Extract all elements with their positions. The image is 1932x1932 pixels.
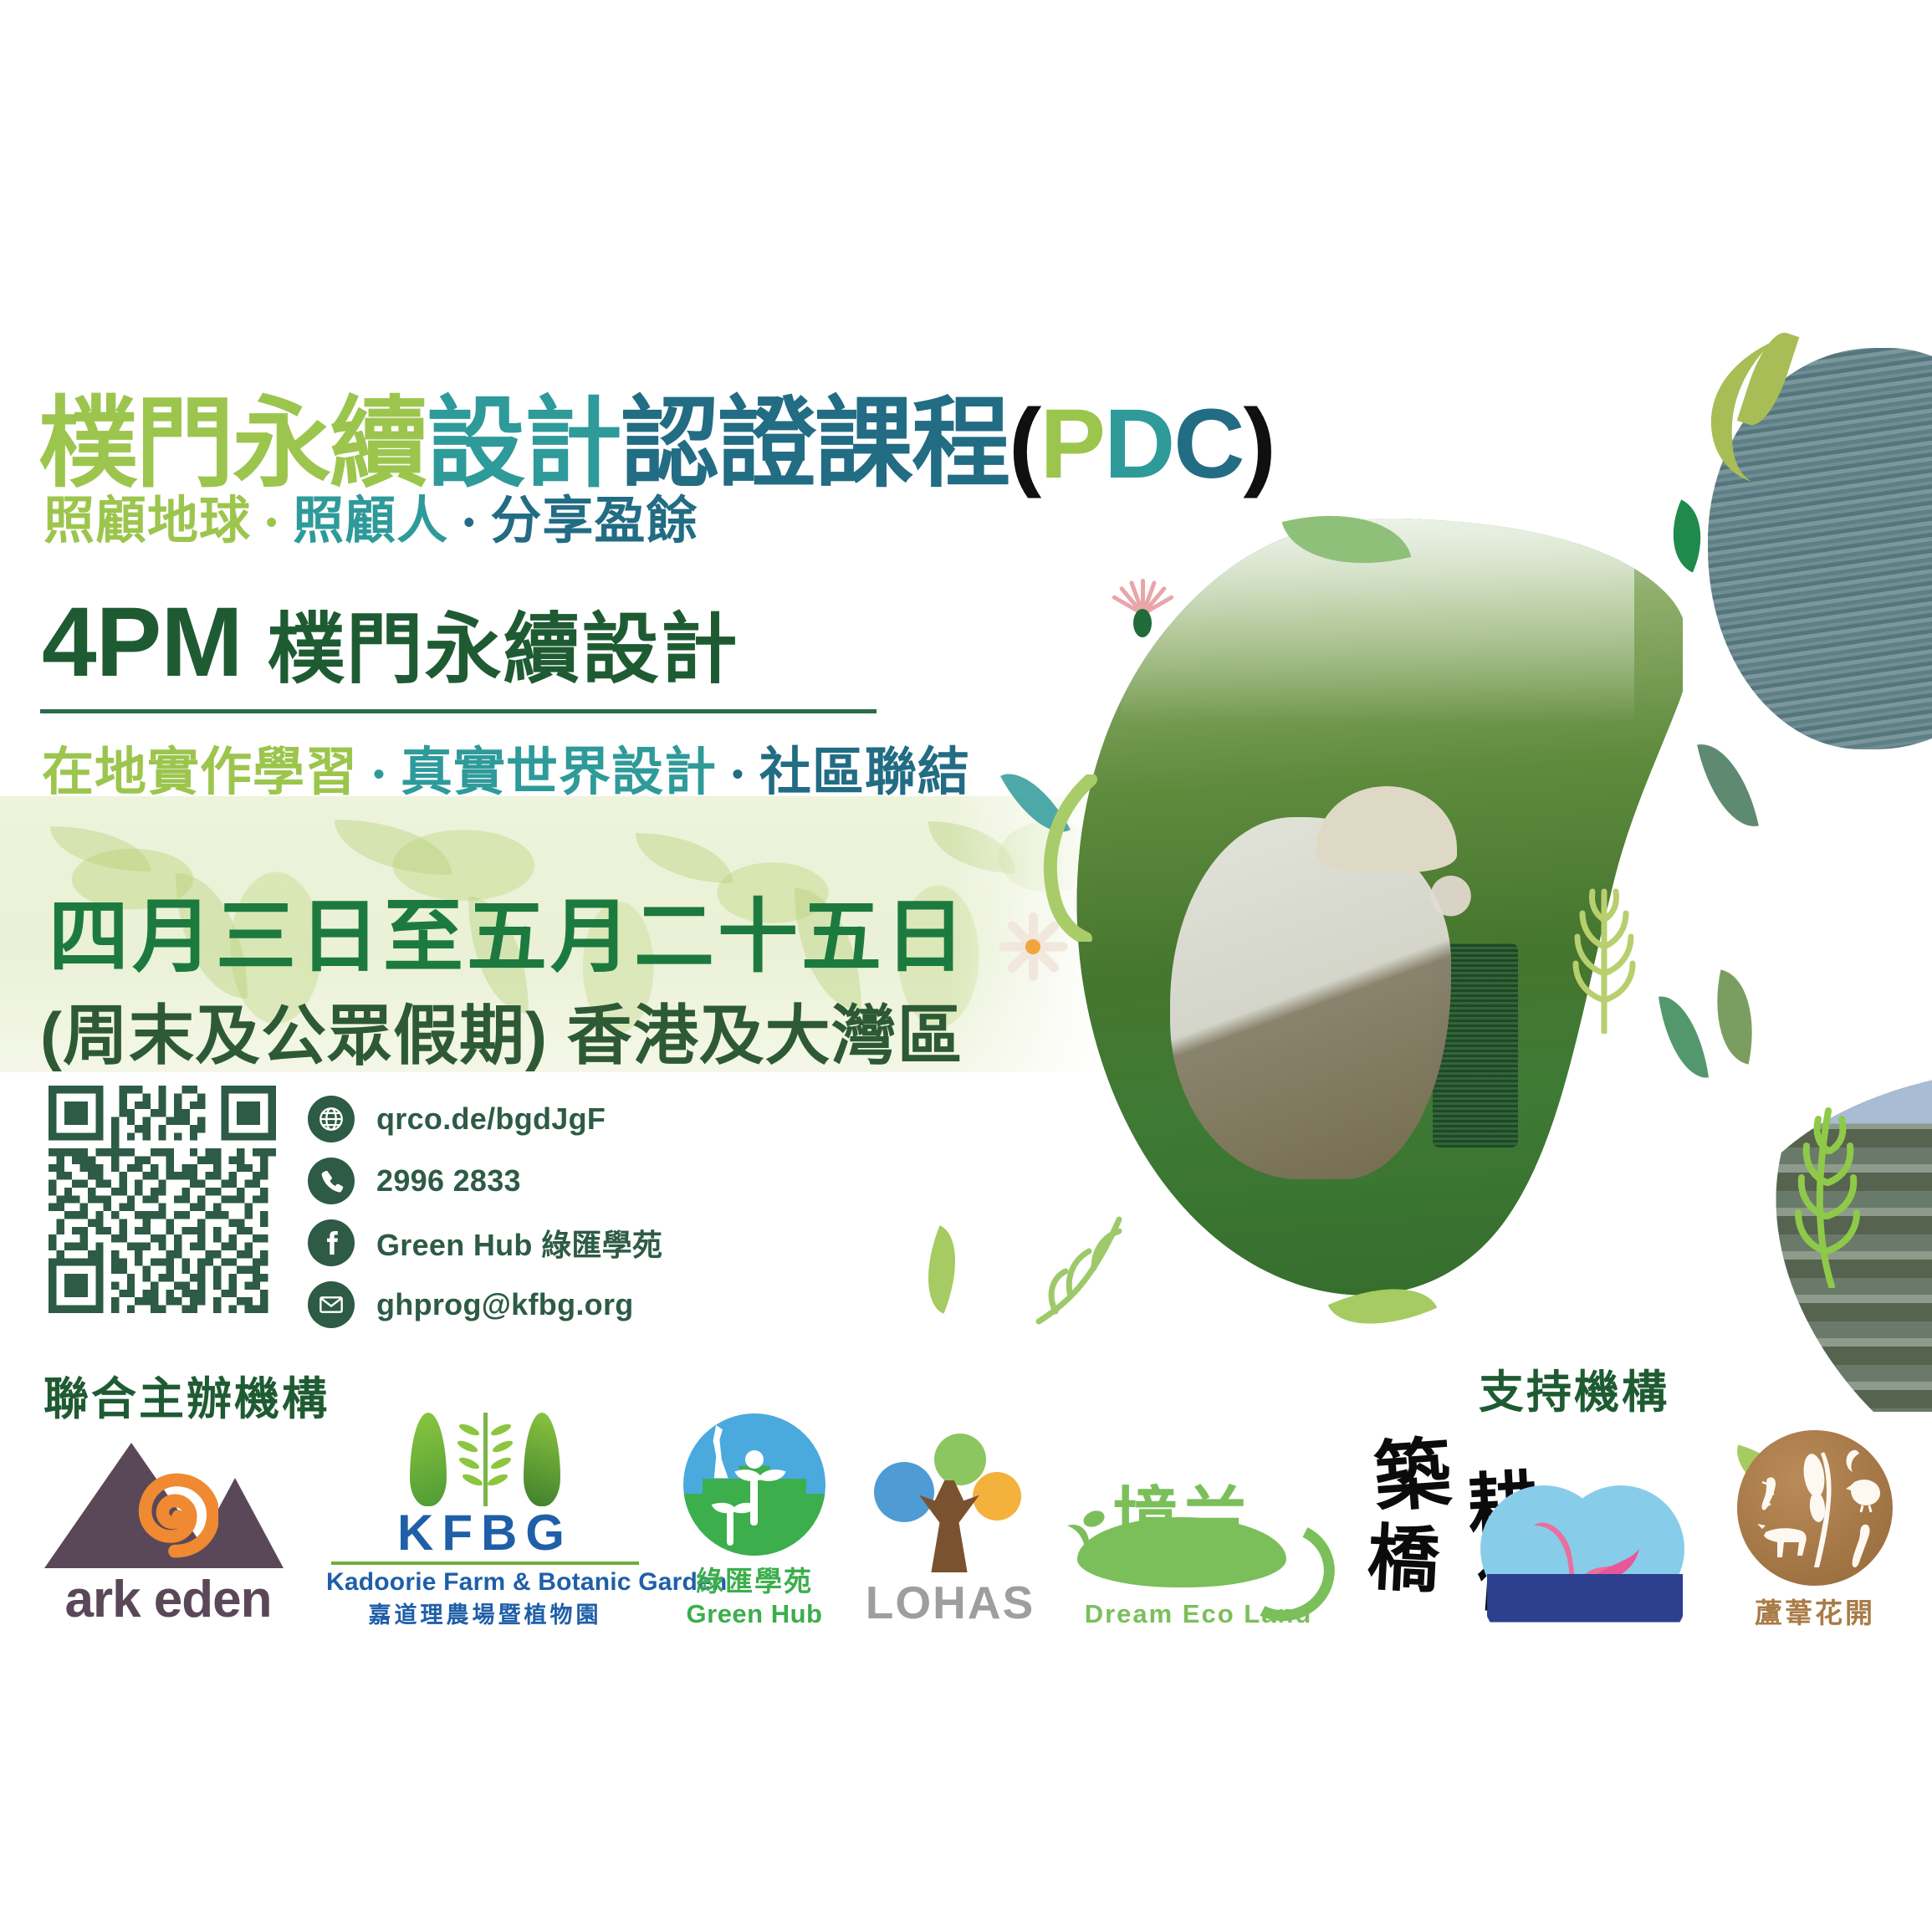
brush-char-2: 橋: [1366, 1522, 1441, 1597]
ribbon-leaf-icon: [1679, 335, 1788, 485]
dandelion-icon: [1102, 545, 1183, 637]
divider-rule: [40, 709, 877, 713]
logo-whale-tail[interactable]: [1472, 1475, 1698, 1631]
title-paren-open: (: [1009, 389, 1040, 499]
logo-reed-flower[interactable]: 蘆葦花開: [1716, 1430, 1914, 1631]
ark-eden-mountain-icon: [44, 1430, 292, 1568]
coorganiser-logo-row: ark eden KFBG Kadoori: [38, 1412, 1460, 1629]
kfbg-initials: KFBG: [326, 1508, 644, 1558]
seedling-sprig-icon: [1022, 1204, 1139, 1330]
whale-tail-icon: [1480, 1475, 1689, 1631]
lohas-name: LOHAS: [861, 1576, 1039, 1629]
reed-circle-icon: [1737, 1430, 1893, 1586]
logo-kfbg[interactable]: KFBG Kadoorie Farm & Botanic Garden 嘉道理農…: [326, 1408, 644, 1629]
ethics-tagline: 照顧地球 • 照顧人 • 分享盈餘: [43, 478, 698, 553]
contact-row-phone[interactable]: 2996 2833: [308, 1151, 662, 1211]
sprout-icon: [1066, 1509, 1106, 1552]
ethic-earth-care: 照顧地球: [43, 492, 251, 549]
title-paren-close: ): [1244, 389, 1275, 499]
dream-eco-land-mark-icon: 境兰: [1066, 1479, 1331, 1606]
facebook-value: Green Hub 綠匯學苑: [376, 1221, 662, 1265]
leaf-icon-olive-2: [1703, 969, 1766, 1064]
course-location-note: (周末及公眾假期) 香港及大灣區: [40, 984, 963, 1077]
feature-local-practice: 在地實作學習: [42, 744, 358, 801]
facebook-icon: [308, 1219, 355, 1266]
brush-char-1: 築: [1372, 1434, 1454, 1516]
ethic-fair-share: 分享盈餘: [490, 492, 698, 549]
leaf-icon-mint: [1659, 991, 1709, 1082]
logo-ark-eden[interactable]: ark eden: [38, 1430, 298, 1629]
kfbg-leaves-icon: [326, 1408, 644, 1506]
spiral-icon: [131, 1471, 218, 1558]
contact-row-facebook[interactable]: Green Hub 綠匯學苑: [308, 1213, 662, 1273]
wheat-sprig-icon: [1551, 875, 1659, 1034]
feature-community-link: 社區聯結: [759, 744, 970, 801]
tagline-separator-2: •: [463, 505, 475, 541]
kfbg-chinese-name: 嘉道理農場暨植物園: [326, 1597, 644, 1629]
phone-value: 2996 2833: [376, 1163, 521, 1199]
leaf-icon-sage: [1697, 736, 1759, 835]
dream-eco-land-chinese-name: 境兰: [1112, 1485, 1251, 1552]
green-hub-english-name: Green Hub: [666, 1599, 843, 1629]
green-hub-chinese-name: 綠匯學苑: [666, 1559, 843, 1599]
supporter-logo-row: 蘆葦花開: [1472, 1413, 1924, 1631]
feature-real-world-design: 真實世界設計: [401, 744, 717, 801]
website-value: qrco.de/bgdJgF: [376, 1101, 606, 1137]
ark-eden-name: ark eden: [38, 1570, 298, 1629]
session-time: 4PM: [42, 587, 243, 698]
contact-list: qrco.de/bgdJgF 2996 2833 Green Hub 綠匯學苑: [308, 1089, 662, 1337]
course-date-range: 四月三日至五月二十五日: [49, 871, 969, 988]
qr-code[interactable]: [49, 1086, 276, 1313]
tagline-separator-1: •: [266, 505, 278, 541]
lohas-tree-icon: [871, 1434, 1030, 1574]
green-hub-mark-icon: [683, 1413, 825, 1556]
course-features: 在地實作學習 • 真實世界設計 • 社區聯結: [42, 729, 970, 805]
reed-name: 蘆葦花開: [1716, 1591, 1914, 1631]
contact-row-email[interactable]: ghprog@kfbg.org: [308, 1275, 662, 1335]
course-name: 樸門永續設計: [268, 607, 739, 693]
time-row: 4PM樸門永續設計: [42, 585, 739, 699]
grass-swirl-icon: [1014, 774, 1114, 942]
logo-lohas[interactable]: LOHAS: [861, 1434, 1039, 1629]
email-value: ghprog@kfbg.org: [376, 1287, 634, 1322]
title-letter-c: C: [1173, 389, 1243, 499]
title-letter-d: D: [1104, 389, 1173, 499]
contact-row-website[interactable]: qrco.de/bgdJgF: [308, 1089, 662, 1149]
poster-canvas: 樸門永續設計認證課程(PDC) 照顧地球 • 照顧人 • 分享盈餘 4PM樸門永…: [0, 0, 1932, 1932]
fern-sprig-icon: [1770, 1096, 1887, 1288]
phone-icon: [308, 1158, 355, 1204]
leaf-icon-lime: [910, 1225, 974, 1313]
supporters-label: 支持機構: [1479, 1355, 1669, 1421]
title-letter-p: P: [1040, 389, 1104, 499]
ethic-people-care: 照顧人: [293, 492, 448, 549]
subtitle-separator-1: •: [373, 756, 385, 793]
logo-green-hub[interactable]: 綠匯學苑 Green Hub: [666, 1413, 843, 1629]
logo-dream-eco-land[interactable]: 境兰 Dream Eco Land: [1061, 1479, 1337, 1629]
subtitle-separator-2: •: [732, 756, 744, 793]
kfbg-english-name: Kadoorie Farm & Botanic Garden: [326, 1568, 644, 1597]
email-icon: [308, 1281, 355, 1328]
globe-icon: [308, 1096, 355, 1142]
